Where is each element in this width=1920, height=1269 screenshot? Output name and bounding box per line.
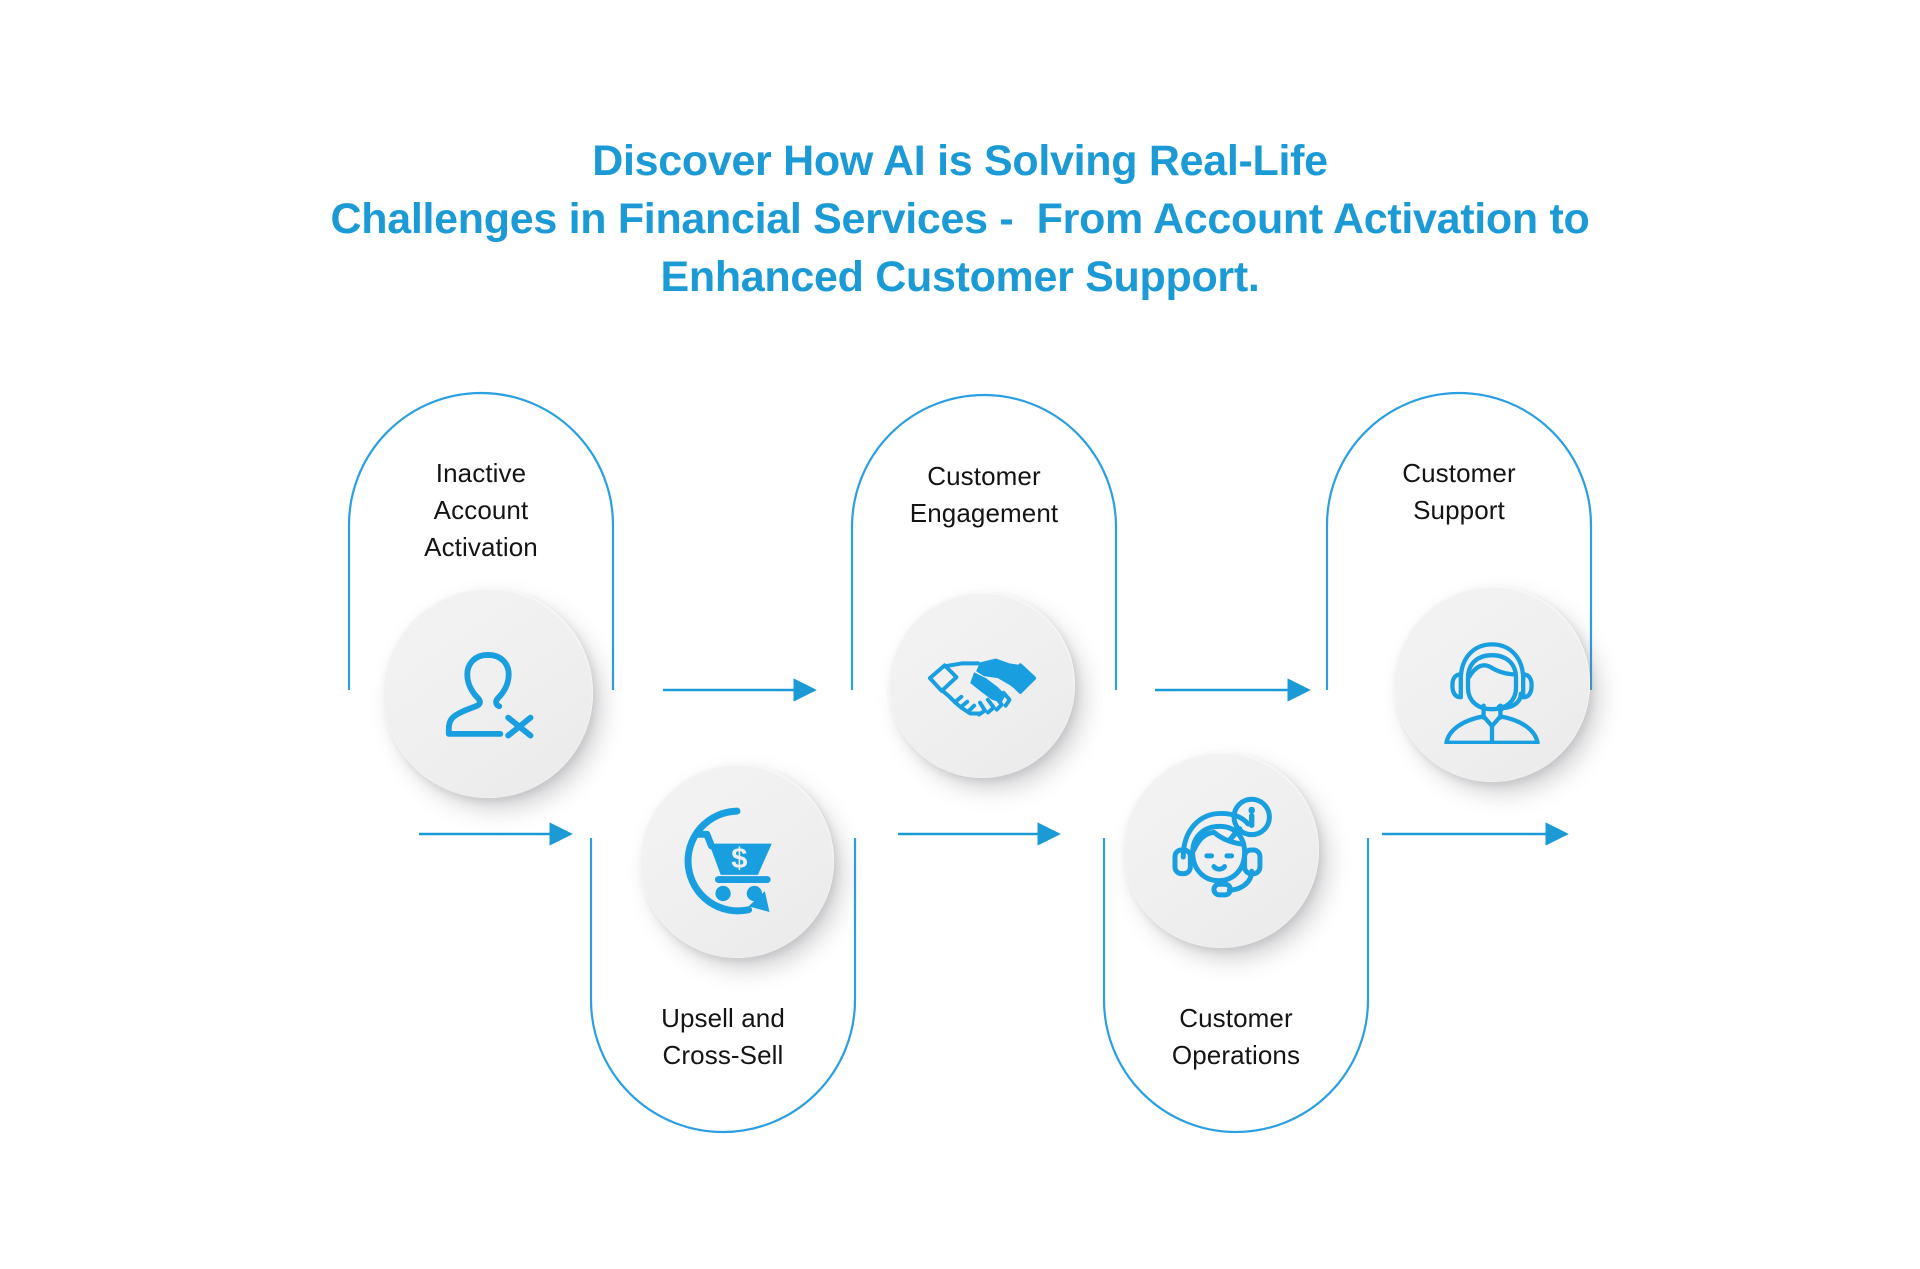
headset-agent-info-icon	[1162, 791, 1280, 909]
infographic-canvas: Discover How AI is Solving Real-Life Cha…	[0, 0, 1920, 1269]
icon-disc-customer-engagement[interactable]	[889, 592, 1075, 778]
icon-disc-customer-operations[interactable]	[1123, 752, 1319, 948]
cart-dollar-refresh-icon: $	[679, 803, 795, 919]
user-x-icon	[432, 637, 544, 749]
icon-disc-customer-support[interactable]	[1394, 586, 1590, 782]
icon-disc-inactive-account-activation[interactable]	[383, 588, 593, 798]
handshake-icon	[923, 626, 1041, 744]
support-agent-icon	[1432, 624, 1552, 744]
icon-disc-upsell-and-cross-sell[interactable]: $	[640, 764, 834, 958]
svg-text:$: $	[731, 843, 747, 875]
